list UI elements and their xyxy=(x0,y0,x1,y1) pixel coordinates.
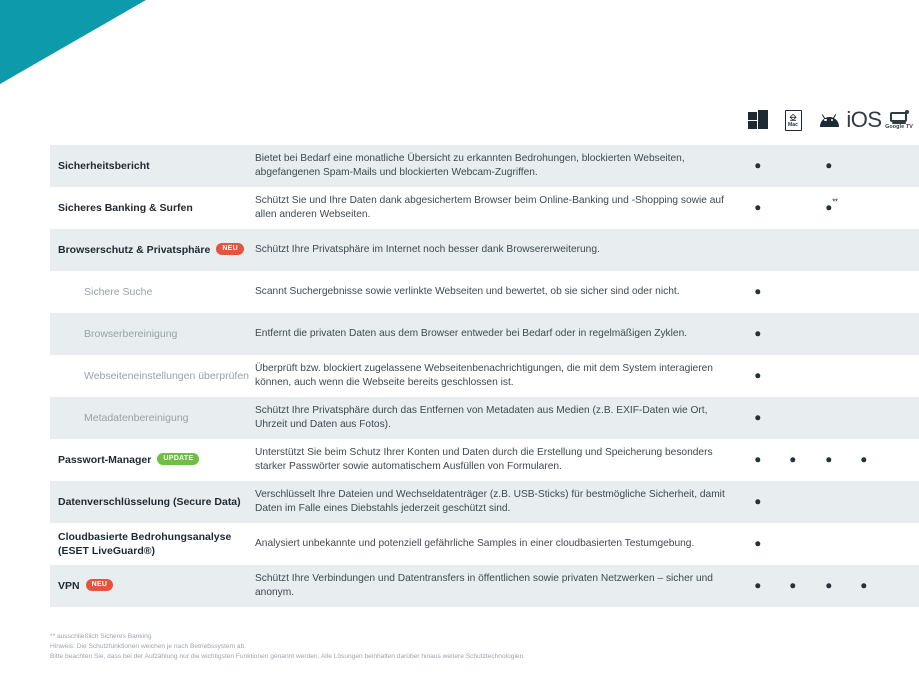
feature-name: VPNNEU xyxy=(50,579,255,593)
feature-description: Schützt Ihre Privatsphäre durch das Entf… xyxy=(255,404,739,432)
availability-dot-windows xyxy=(755,499,760,504)
feature-name: Browserschutz & PrivatsphäreNEU xyxy=(50,243,255,257)
windows-logo-icon xyxy=(748,110,768,130)
footnote-marker: ** xyxy=(832,198,837,206)
platform-availability-cell xyxy=(739,355,919,397)
footnote-line: ** ausschließlich Sicheres Banking xyxy=(50,632,890,642)
platform-availability-cell xyxy=(739,145,919,187)
platform-availability-cell xyxy=(739,481,919,523)
platform-availability-cell xyxy=(739,523,919,565)
table-row: Cloudbasierte Bedrohungsanalyse (ESET Li… xyxy=(50,523,919,565)
feature-description: Unterstützt Sie beim Schutz Ihrer Konten… xyxy=(255,446,739,474)
feature-name: Sicheres Banking & Surfen xyxy=(50,201,255,215)
table-row: SicherheitsberichtBietet bei Bedarf eine… xyxy=(50,145,919,187)
feature-description: Verschlüsselt Ihre Dateien und Wechselda… xyxy=(255,488,739,516)
feature-description: Entfernt die privaten Daten aus dem Brow… xyxy=(255,327,739,341)
feature-name: Datenverschlüsselung (Secure Data) xyxy=(50,495,255,509)
feature-name-label: Webseiteneinstellungen überprüfen xyxy=(84,369,249,383)
feature-name-label: VPN xyxy=(58,579,80,593)
availability-dot-windows xyxy=(755,583,760,588)
platform-availability-cell xyxy=(739,439,919,481)
table-row: MetadatenbereinigungSchützt Ihre Privats… xyxy=(50,397,919,439)
availability-dot-ios xyxy=(861,583,866,588)
availability-dot-windows xyxy=(755,415,760,420)
teal-corner-decoration xyxy=(0,0,150,86)
table-row: Browserschutz & PrivatsphäreNEUSchützt I… xyxy=(50,229,919,271)
feature-description: Scannt Suchergebnisse sowie verlinkte We… xyxy=(255,285,739,299)
platform-availability-cell xyxy=(739,313,919,355)
availability-dot-windows xyxy=(755,289,760,294)
platform-availability-cell xyxy=(739,229,919,271)
feature-name: Cloudbasierte Bedrohungsanalyse (ESET Li… xyxy=(50,530,255,558)
table-row: Datenverschlüsselung (Secure Data)Versch… xyxy=(50,481,919,523)
table-row: Webseiteneinstellungen überprüfenÜberprü… xyxy=(50,355,919,397)
mac-logo-icon: ⎒ Mac xyxy=(785,110,802,131)
feature-description: Analysiert unbekannte und potenziell gef… xyxy=(255,537,739,551)
availability-dot-windows xyxy=(755,163,760,168)
feature-name-label: Browserschutz & Privatsphäre xyxy=(58,243,210,257)
feature-sub-name: Browserbereinigung xyxy=(50,327,255,341)
availability-dot-android xyxy=(826,163,831,168)
google-tv-logo-icon: Google TV xyxy=(885,110,913,130)
availability-dot-windows xyxy=(755,541,760,546)
table-row: BrowserbereinigungEntfernt die privaten … xyxy=(50,313,919,355)
table-row: Sicheres Banking & SurfenSchützt Sie und… xyxy=(50,187,919,229)
mac-window-glyph: ⎒ xyxy=(789,112,796,122)
feature-comparison-table: SicherheitsberichtBietet bei Bedarf eine… xyxy=(50,145,919,607)
feature-name-label: Sichere Suche xyxy=(84,285,152,299)
status-badge: NEU xyxy=(216,243,244,255)
mac-icon-label: Mac xyxy=(788,122,798,128)
feature-description: Schützt Ihre Verbindungen und Datentrans… xyxy=(255,572,739,600)
availability-dot-android: ** xyxy=(826,205,831,210)
feature-name-label: Passwort-Manager xyxy=(58,453,151,467)
status-badge: UPDATE xyxy=(157,453,199,465)
feature-name-label: Cloudbasierte Bedrohungsanalyse (ESET Li… xyxy=(58,530,255,558)
platform-availability-cell xyxy=(739,271,919,313)
footnote-line: Bitte beachten Sie, dass bei der Aufzähl… xyxy=(50,652,890,662)
teal-triangle-icon xyxy=(0,0,150,86)
status-badge: NEU xyxy=(86,579,114,591)
android-logo-icon xyxy=(818,113,840,127)
table-bottom-divider xyxy=(50,597,919,598)
feature-name-label: Datenverschlüsselung (Secure Data) xyxy=(58,495,241,509)
feature-name-label: Sicheres Banking & Surfen xyxy=(58,201,193,215)
table-row: VPNNEUSchützt Ihre Verbindungen und Date… xyxy=(50,565,919,607)
platform-header-row: ⎒ Mac iOS Google TV xyxy=(0,100,919,140)
feature-description: Überprüft bzw. blockiert zugelassene Web… xyxy=(255,362,739,390)
feature-description: Bietet bei Bedarf eine monatliche Übersi… xyxy=(255,152,739,180)
feature-name-label: Sicherheitsbericht xyxy=(58,159,150,173)
feature-name: Sicherheitsbericht xyxy=(50,159,255,173)
feature-sub-name: Webseiteneinstellungen überprüfen xyxy=(50,369,255,383)
platform-availability-cell xyxy=(739,565,919,607)
footnote-line: Hinweis: Die Schutzfunktionen weichen je… xyxy=(50,642,890,652)
availability-dot-android xyxy=(826,583,831,588)
platform-availability-cell: ** xyxy=(739,187,919,229)
footnotes-block: ** ausschließlich Sicheres BankingHinwei… xyxy=(50,632,890,662)
feature-name: Passwort-ManagerUPDATE xyxy=(50,453,255,467)
table-row: Passwort-ManagerUPDATEUnterstützt Sie be… xyxy=(50,439,919,481)
feature-description: Schützt Sie und Ihre Daten dank abgesich… xyxy=(255,194,739,222)
availability-dot-mac xyxy=(790,457,795,462)
feature-description: Schützt Ihre Privatsphäre im Internet no… xyxy=(255,243,739,257)
table-row: Sichere SucheScannt Suchergebnisse sowie… xyxy=(50,271,919,313)
feature-sub-name: Metadatenbereinigung xyxy=(50,411,255,425)
platform-column-googletv: Google TV xyxy=(877,100,919,140)
availability-dot-windows xyxy=(755,331,760,336)
feature-name-label: Metadatenbereinigung xyxy=(84,411,189,425)
feature-sub-name: Sichere Suche xyxy=(50,285,255,299)
availability-dot-mac xyxy=(790,583,795,588)
google-tv-icon-label: Google TV xyxy=(885,124,913,130)
availability-dot-windows xyxy=(755,373,760,378)
availability-dot-ios xyxy=(861,457,866,462)
feature-name-label: Browserbereinigung xyxy=(84,327,177,341)
availability-dot-windows xyxy=(755,205,760,210)
availability-dot-android xyxy=(826,457,831,462)
platform-availability-cell xyxy=(739,397,919,439)
availability-dot-windows xyxy=(755,457,760,462)
